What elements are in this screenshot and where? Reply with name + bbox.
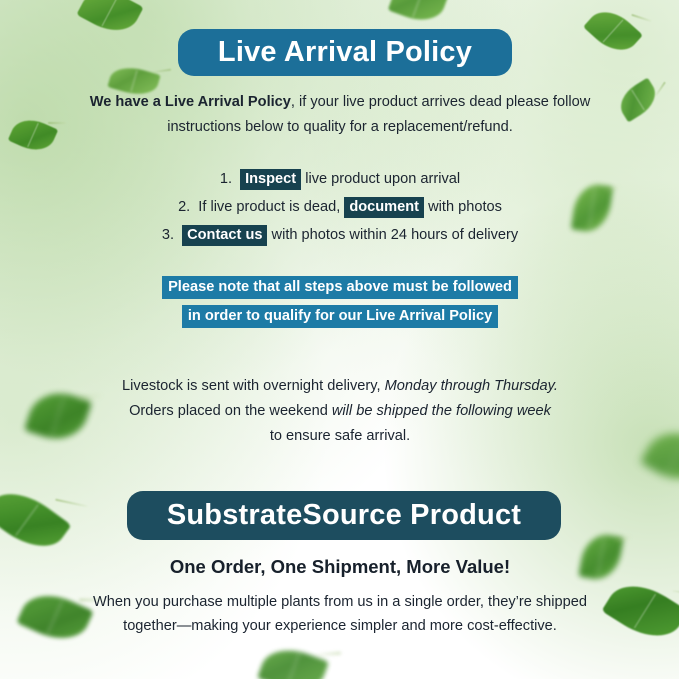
intro-bold-lead: We have a Live Arrival Policy [90, 94, 291, 110]
value-subheading: One Order, One Shipment, More Value! [72, 556, 608, 578]
substratesource-product-banner-label: SubstrateSource Product [167, 499, 521, 532]
leaf-vein [15, 504, 39, 536]
policy-steps-list: 1. Inspect live product upon arrival2. I… [60, 165, 620, 249]
policy-step-1-number: 1. [220, 171, 232, 187]
combined-shipping-paragraph: When you purchase multiple plants from u… [72, 590, 608, 638]
leaf-vein [666, 437, 679, 474]
live-arrival-policy-infographic: Live Arrival Policy We have a Live Arriv… [0, 0, 679, 679]
leaf-right-upper-stem [655, 82, 666, 97]
leaf-left-lower-icon [24, 385, 92, 448]
leaf-vein [27, 123, 39, 148]
policy-step-1-after-text: live product upon arrival [301, 171, 460, 187]
leaf-left-bottom-stem [55, 498, 87, 507]
leaf-bottom-center-stem [315, 652, 341, 656]
livestock-line2-italic: will be shipped the following week [332, 403, 551, 419]
leaf-right-lower-stem [615, 536, 631, 542]
live-arrival-policy-banner-label: Live Arrival Policy [218, 36, 472, 69]
livestock-line3: to ensure safe arrival. [270, 428, 410, 444]
policy-step-2: 2. If live product is dead, document wit… [60, 193, 620, 221]
leaf-vein [634, 594, 656, 629]
leaf-vein [130, 70, 137, 92]
leaf-right-upper-icon [614, 78, 663, 123]
leaf-top-right-icon [583, 2, 643, 61]
policy-note-line-1-highlight: Please note that all steps above must be… [162, 276, 518, 299]
policy-step-2-before-text: If live product is dead, [194, 199, 344, 215]
leaf-top-right-stem [631, 14, 652, 22]
leaf-vein [412, 0, 423, 17]
leaf-vein [631, 89, 645, 110]
policy-step-3-number: 3. [162, 227, 174, 243]
leaf-right-edge-icon [640, 421, 679, 492]
policy-note-line-2-highlight: in order to qualify for our Live Arrival… [182, 305, 498, 328]
policy-step-2-highlight: document [344, 197, 424, 218]
leaf-vein [102, 0, 119, 26]
livestock-line1-a: Livestock is sent with overnight deliver… [122, 378, 380, 394]
policy-note-line-1: Please note that all steps above must be… [60, 273, 620, 302]
leaf-top-center-icon [388, 0, 448, 28]
leaf-bottom-center-icon [257, 641, 329, 679]
live-arrival-policy-banner: Live Arrival Policy [178, 29, 512, 76]
livestock-line2-a: Orders placed on the weekend [129, 403, 328, 419]
leaf-vein [603, 20, 624, 43]
intro-paragraph: We have a Live Arrival Policy, if your l… [66, 90, 614, 140]
leaf-left-bottom-icon [0, 479, 71, 560]
leaf-vein [287, 653, 300, 679]
livestock-shipping-paragraph: Livestock is sent with overnight deliver… [86, 374, 594, 449]
leaf-bottom-right-icon [601, 572, 679, 650]
policy-step-3: 3. Contact us with photos within 24 hour… [60, 221, 620, 249]
policy-step-3-after-text: with photos within 24 hours of delivery [267, 227, 518, 243]
policy-step-2-number: 2. [178, 199, 190, 215]
policy-step-2-after-text: with photos [424, 199, 502, 215]
livestock-line1-italic: Monday through Thursday. [385, 378, 558, 394]
leaf-vein [47, 600, 63, 634]
leaf-bottom-right-stem [672, 590, 679, 596]
substratesource-product-banner: SubstrateSource Product [127, 491, 561, 540]
policy-step-3-highlight: Contact us [182, 225, 267, 246]
leaf-mid-left-icon [8, 113, 59, 157]
policy-step-1: 1. Inspect live product upon arrival [60, 165, 620, 193]
policy-note-block: Please note that all steps above must be… [60, 273, 620, 331]
policy-note-line-2: in order to qualify for our Live Arrival… [60, 302, 620, 331]
leaf-vein [51, 396, 65, 436]
leaf-mid-left-stem [48, 122, 66, 124]
policy-step-1-highlight: Inspect [240, 169, 301, 190]
leaf-upper-left-stem [151, 69, 171, 74]
leaf-top-left-icon [76, 0, 143, 41]
